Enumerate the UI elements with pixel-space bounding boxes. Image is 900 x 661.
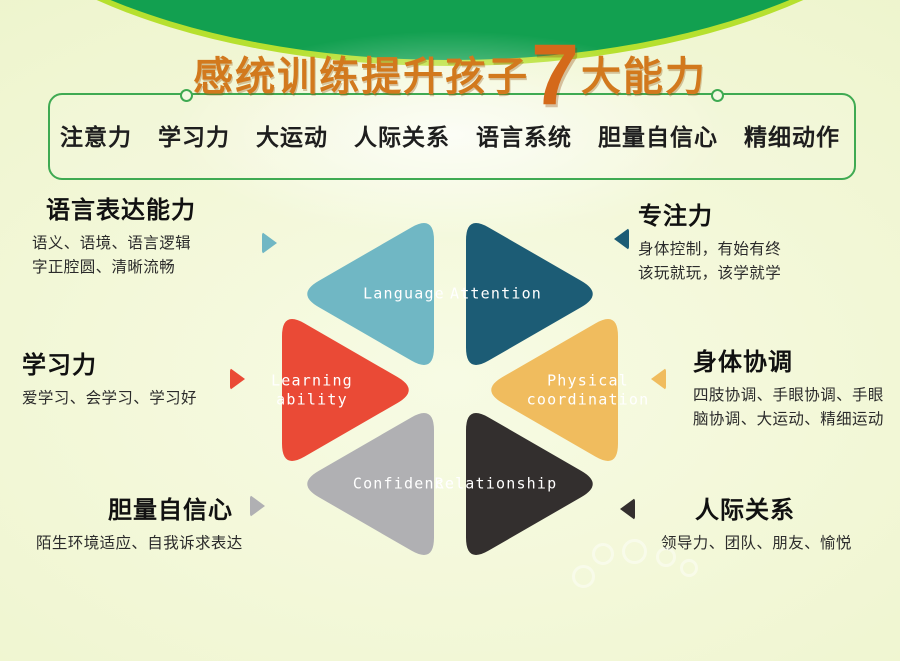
title-number: 7 <box>531 27 579 123</box>
callout-line-physical-coordination-0: 四肢协调、手眼协调、手眼 <box>693 384 884 408</box>
page-title: 感统训练提升孩子7大能力 <box>0 57 900 97</box>
keyword-item-2: 大运动 <box>256 118 328 152</box>
keyword-item-6: 精细动作 <box>744 118 840 152</box>
title-main: 感统训练提升孩子 <box>193 55 529 99</box>
callout-heading-learning-ability: 学习力 <box>22 345 197 380</box>
callout-heading-language-expression: 语言表达能力 <box>46 190 196 225</box>
watermark <box>570 539 760 599</box>
callout-line-attention-1: 该玩就玩，该学就学 <box>638 262 781 286</box>
keyword-item-0: 注意力 <box>60 118 132 152</box>
callout-heading-confidence: 胆量自信心 <box>108 490 243 525</box>
capability-hexagon-diagram: LanguageAttentionPhysical coordinationRe… <box>265 212 635 552</box>
callout-line-physical-coordination-1: 脑协调、大运动、精细运动 <box>693 408 884 432</box>
callout-line-language-expression-0: 语义、语境、语言逻辑 <box>32 232 196 256</box>
keyword-item-1: 学习力 <box>158 118 230 152</box>
callout-attention: 专注力身体控制，有始有终该玩就玩，该学就学 <box>638 196 781 286</box>
pointer-triangle-icon-physical-coordination <box>651 368 666 390</box>
callout-heading-relationship: 人际关系 <box>695 490 852 525</box>
keyword-item-5: 胆量自信心 <box>598 118 718 152</box>
pointer-triangle-icon-relationship <box>620 498 635 520</box>
callout-learning-ability: 学习力爱学习、会学习、学习好 <box>22 345 197 411</box>
pointer-triangle-icon-confidence <box>250 495 265 517</box>
pointer-triangle-icon-learning-ability <box>230 368 245 390</box>
callout-heading-physical-coordination: 身体协调 <box>693 342 884 377</box>
infographic-canvas: 感统训练提升孩子7大能力 注意力学习力大运动人际关系语言系统胆量自信心精细动作 … <box>0 0 900 661</box>
callout-line-confidence-0: 陌生环境适应、自我诉求表达 <box>36 532 243 556</box>
pointer-triangle-icon-attention <box>614 228 629 250</box>
pointer-triangle-icon-language-expression <box>262 232 277 254</box>
callout-language-expression: 语言表达能力语义、语境、语言逻辑字正腔圆、清晰流畅 <box>32 190 196 280</box>
callout-heading-attention: 专注力 <box>638 196 781 231</box>
callout-confidence: 胆量自信心陌生环境适应、自我诉求表达 <box>36 490 243 556</box>
callout-line-attention-0: 身体控制，有始有终 <box>638 238 781 262</box>
callout-line-language-expression-1: 字正腔圆、清晰流畅 <box>32 256 196 280</box>
callout-physical-coordination: 身体协调四肢协调、手眼协调、手眼脑协调、大运动、精细运动 <box>693 342 884 432</box>
keyword-item-3: 人际关系 <box>354 118 450 152</box>
callout-line-learning-ability-0: 爱学习、会学习、学习好 <box>22 387 197 411</box>
keyword-list: 注意力学习力大运动人际关系语言系统胆量自信心精细动作 <box>48 93 852 176</box>
title-tail: 大能力 <box>581 55 707 99</box>
